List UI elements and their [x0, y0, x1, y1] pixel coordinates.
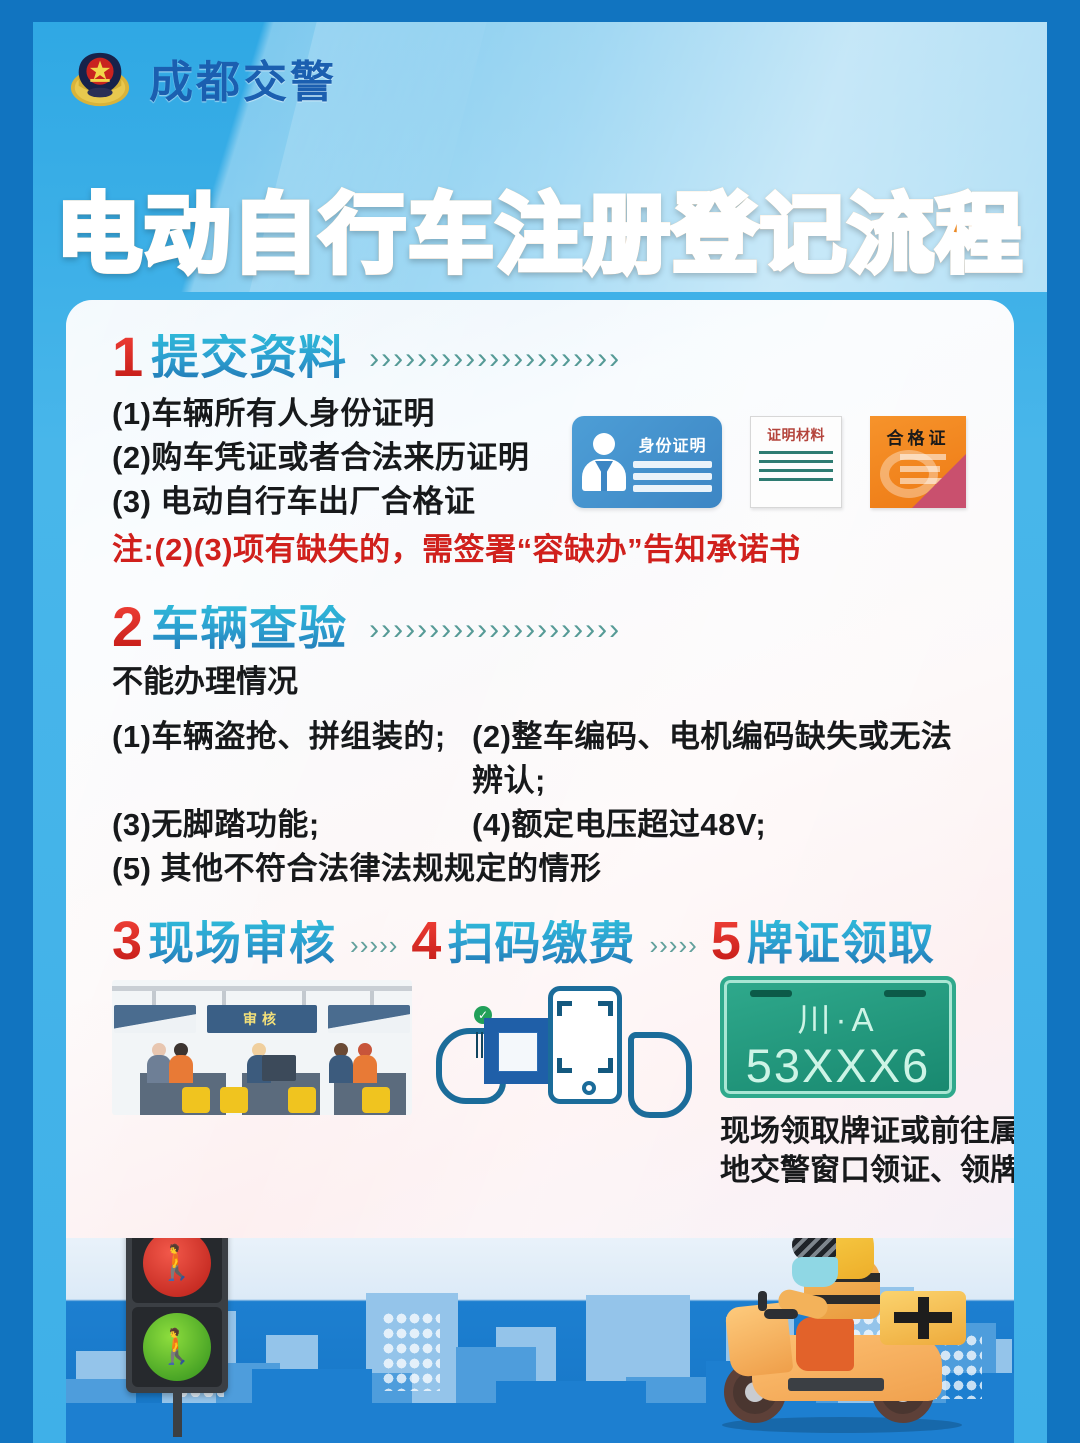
step-1-heading: 1 提交资料 ››››››› ››››››› ›››››››: [112, 332, 970, 382]
delivery-scooter-rider-icon: [692, 1237, 992, 1437]
step-3-label: 现场审核: [148, 920, 336, 966]
plate-block: 川·A 53XXX6 现场领取牌证或前往属地交警窗口领证、领牌: [720, 976, 970, 1190]
list-item: (1)车辆盗抢、拼组装的;: [112, 715, 472, 803]
id-card-caption: 身份证明: [633, 432, 712, 456]
step-4-label: 扫码缴费: [447, 920, 635, 966]
plate-line-2: 53XXX6: [746, 1041, 930, 1090]
step-2-label: 车辆查验: [151, 605, 347, 653]
traffic-light-icon: 🚶 🚶: [126, 1211, 228, 1437]
license-plate-icon: 川·A 53XXX6: [720, 976, 956, 1098]
plate-note: 现场领取牌证或前往属地交警窗口领证、领牌: [720, 1112, 1014, 1190]
illustration-row: 审核 ✓: [112, 980, 970, 1135]
step-5-label: 牌证领取: [747, 920, 935, 966]
list-item: (5) 其他不符合法律法规规定的情形: [112, 847, 970, 891]
id-card-icon: 身份证明: [572, 416, 722, 508]
step-5-heading: 5 牌证领取: [711, 917, 935, 966]
person-silhouette-icon: [582, 433, 626, 491]
certificate-caption: 合格证: [870, 424, 966, 449]
service-counter-icon: 审核: [112, 980, 412, 1115]
step-1-number: 1: [112, 332, 143, 382]
steps-345-heading-row: 3 现场审核 ››››› 4 扫码缴费 ››››› 5: [112, 917, 970, 966]
list-item: (3)无脚踏功能;: [112, 803, 472, 847]
chevron-row-1: ››››››› ››››››› ›››››››: [369, 344, 970, 382]
org-name: 成都交警: [149, 46, 337, 110]
plate-line-1: 川·A: [798, 993, 879, 1041]
step-1-label: 提交资料: [151, 334, 347, 382]
page-title-text: 电动自行车注册登记流程: [56, 164, 1024, 289]
list-item: (2)整车编码、电机编码缺失或无法辨认;: [472, 715, 970, 803]
step-5-number: 5: [711, 917, 741, 966]
poster-inner-panel: 成都交警 电动自行车注册登记流程 1 提交资料 ››››››› ››››››› …: [33, 22, 1047, 1443]
document-icons: 身份证明 证明材料 合格证: [572, 416, 966, 508]
step-2-items: (1)车辆盗抢、拼组装的; (2)整车编码、电机编码缺失或无法辨认; (3)无脚…: [112, 715, 970, 891]
chevron-row-4: ›››››: [635, 932, 710, 966]
certificate-icon: 合格证: [870, 416, 966, 508]
police-badge-icon: [69, 47, 131, 109]
content-card: 1 提交资料 ››››››› ››››››› ››››››› (1)车辆所有人身…: [66, 300, 1014, 1238]
hand-icon: [628, 1032, 692, 1118]
pedestrian-red-symbol: 🚶: [156, 1246, 198, 1280]
step-3-heading: 3 现场审核: [112, 917, 336, 966]
list-item: (4)额定电压超过48V;: [472, 803, 766, 847]
step-2-heading: 2 车辆查验 ››››››› ››››››› ›››››››: [112, 602, 970, 652]
step-1-note: 注:(2)(3)项有缺失的，需签署“容缺办”告知承诺书: [112, 528, 970, 572]
delivery-box-icon: [880, 1291, 966, 1345]
step-4-heading: 4 扫码缴费: [411, 917, 635, 966]
chevron-row-3: ›››››: [336, 932, 411, 966]
step-2-subtitle: 不能办理情况: [112, 659, 970, 706]
chevron-row-2: ››››››› ››››››› ›››››››: [369, 615, 970, 653]
counter-sign-text: 审核: [243, 1009, 281, 1029]
qr-scan-phone-icon: ✓: [436, 980, 686, 1135]
bottom-city-scene: 🚶 🚶: [66, 1211, 1014, 1443]
step-3-number: 3: [112, 917, 142, 966]
poster-root: 成都交警 电动自行车注册登记流程 1 提交资料 ››››››› ››››››› …: [0, 0, 1080, 1443]
phone-icon: [548, 986, 622, 1104]
paper-document-icon: 证明材料: [750, 416, 842, 508]
pedestrian-green-symbol: 🚶: [156, 1330, 198, 1364]
page-title: 电动自行车注册登记流程: [33, 164, 1047, 289]
step-2-number: 2: [112, 602, 143, 652]
header: 成都交警: [69, 46, 337, 110]
paper-caption: 证明材料: [759, 425, 833, 445]
step-4-number: 4: [411, 917, 441, 966]
